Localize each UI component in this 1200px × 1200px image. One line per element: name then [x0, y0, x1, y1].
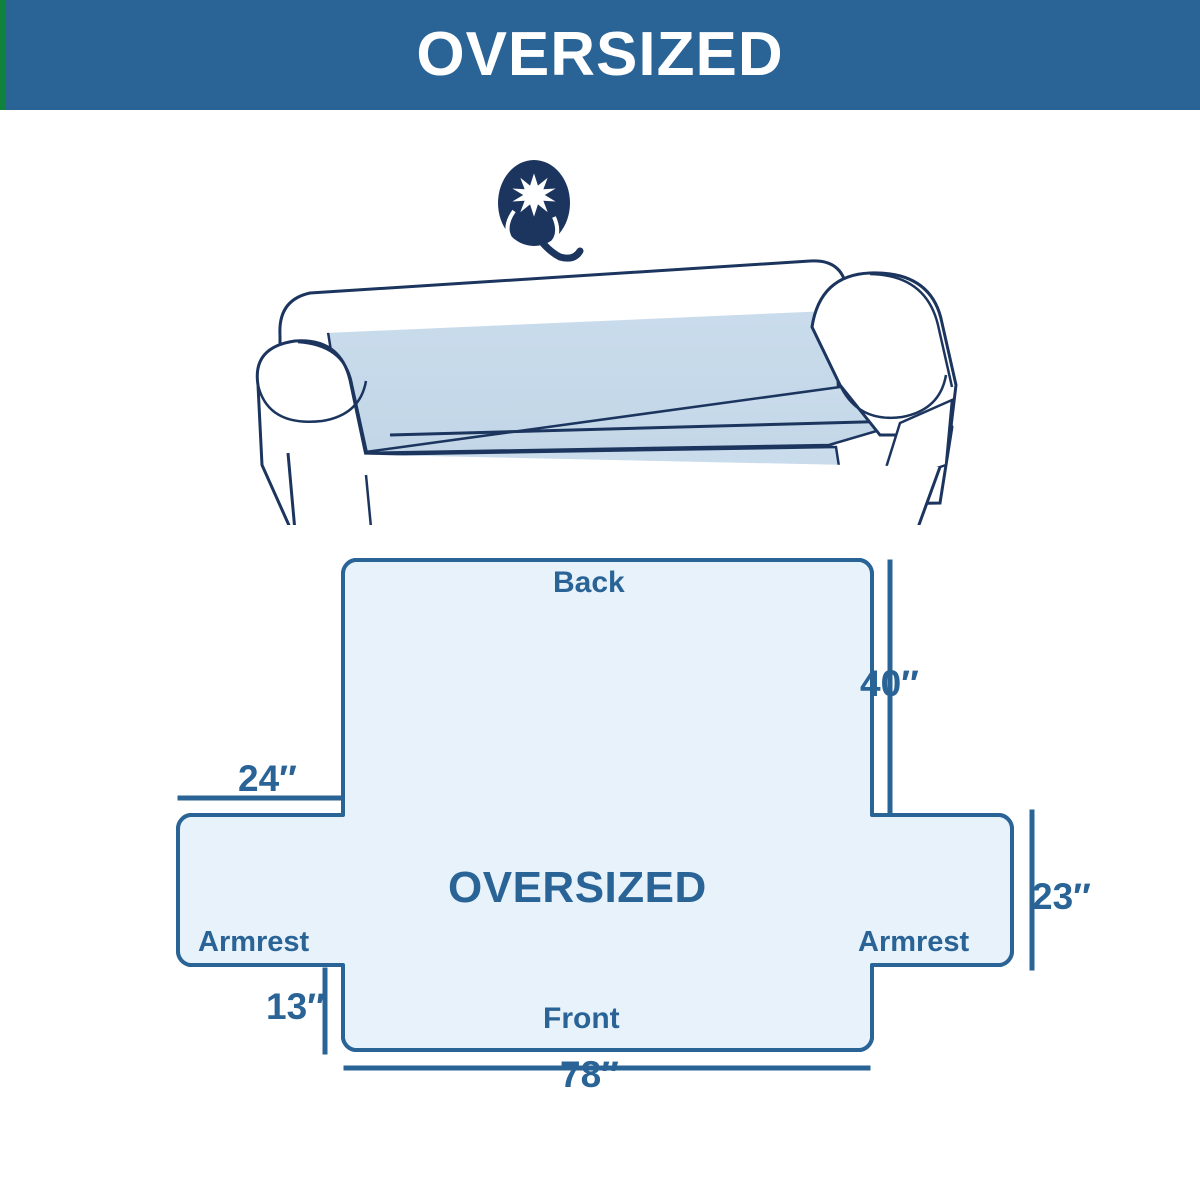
measurement-armrest-width: 24″ [238, 760, 297, 797]
sofa-svg [240, 135, 980, 525]
slipcover-outline [150, 540, 1090, 1140]
measurement-armrest-height: 23″ [1032, 878, 1091, 915]
q-starburst-logo [498, 160, 580, 258]
banner-accent-stripe [0, 0, 5, 110]
measurement-total-width: 78″ [560, 1056, 619, 1093]
panel-label-back: Back [553, 568, 625, 598]
diagram-svg [150, 540, 1090, 1140]
diagram-center-label: OVERSIZED [448, 866, 707, 910]
measurement-back-height: 40″ [860, 665, 919, 702]
sofa-illustration [240, 135, 980, 525]
dimension-diagram [150, 540, 1090, 1140]
page-title: OVERSIZED [416, 24, 783, 86]
cross-outline [178, 560, 1012, 1050]
panel-label-armrest-right: Armrest [858, 928, 969, 957]
measurement-front-drop: 13″ [266, 988, 325, 1025]
panel-label-armrest-left: Armrest [198, 928, 309, 957]
panel-label-front: Front [543, 1004, 620, 1034]
header-banner: OVERSIZED [0, 0, 1200, 110]
product-size-chart: OVERSIZED [0, 0, 1200, 1200]
